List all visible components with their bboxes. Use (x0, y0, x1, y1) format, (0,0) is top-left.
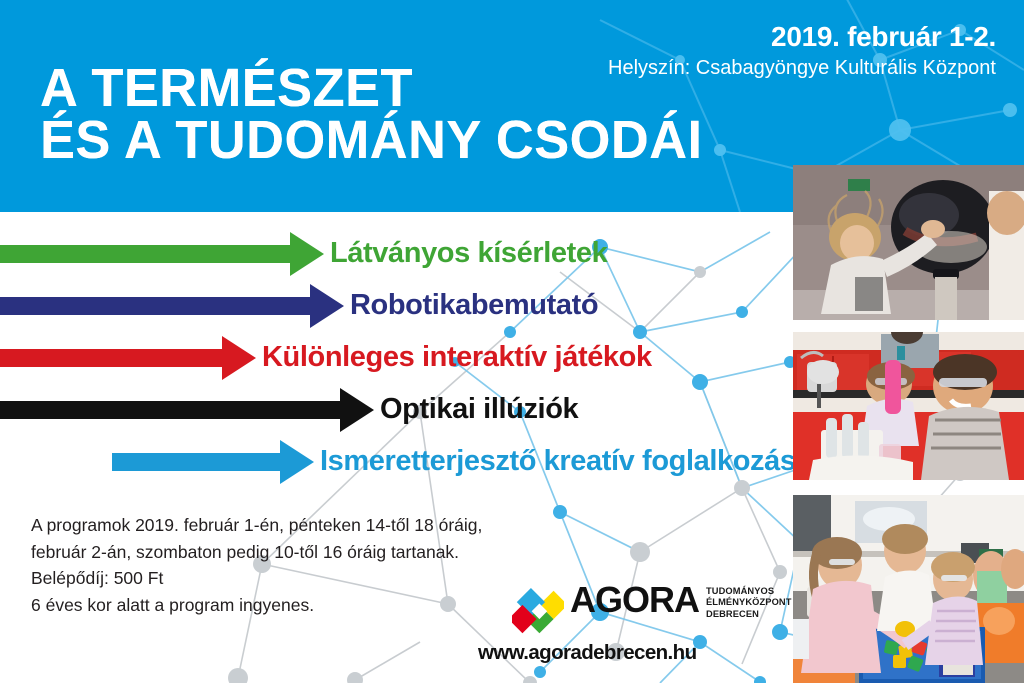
program-item: Ismeretterjesztő kreatív foglalkozás (112, 436, 796, 488)
program-item-label: Robotikabemutató (350, 291, 598, 320)
program-item: Különleges interaktív játékok (0, 332, 652, 384)
photo-chemistry-lab (793, 332, 1024, 480)
agora-tagline-line-1: TUDOMÁNYOS (706, 586, 792, 597)
agora-tagline-line-2: ÉLMÉNYKÖZPONT (706, 597, 792, 608)
program-item-label: Különleges interaktív játékok (262, 343, 652, 372)
page-title: A TERMÉSZET ÉS A TUDOMÁNY CSODÁI (40, 62, 723, 167)
program-arrow-icon (0, 384, 374, 436)
event-info-block: A programok 2019. február 1-én, pénteken… (31, 512, 551, 618)
photo-column (793, 0, 1024, 683)
photo-creative-workshop (793, 495, 1024, 683)
program-arrow-icon (0, 280, 344, 332)
agora-wordmark: AGORA (570, 583, 699, 617)
agora-tagline-line-3: DEBRECEN (706, 609, 792, 620)
agora-tagline: TUDOMÁNYOS ÉLMÉNYKÖZPONT DEBRECEN (706, 586, 792, 620)
program-arrow-icon (112, 436, 314, 488)
agora-website-url[interactable]: www.agoradebrecen.hu (478, 641, 782, 665)
program-arrow-icon (0, 228, 324, 280)
photo-van-de-graaff (793, 165, 1024, 320)
program-item: Optikai illúziók (0, 384, 578, 436)
agora-logo[interactable]: AGORA TUDOMÁNYOS ÉLMÉNYKÖZPONT DEBRECEN … (512, 583, 782, 655)
program-item-label: Optikai illúziók (380, 395, 578, 424)
title-line-2: ÉS A TUDOMÁNY CSODÁI (40, 114, 703, 166)
poster: 2019. február 1-2. Helyszín: Csabagyöngy… (0, 0, 1024, 683)
agora-diamond-mark-icon (512, 584, 564, 640)
info-line-1: A programok 2019. február 1-én, pénteken… (31, 512, 551, 539)
title-line-1: A TERMÉSZET (40, 62, 703, 114)
program-item-label: Ismeretterjesztő kreatív foglalkozás (320, 447, 796, 476)
info-line-4: 6 éves kor alatt a program ingyenes. (31, 592, 551, 619)
info-line-2: február 2-án, szombaton pedig 10-től 16 … (31, 539, 551, 566)
program-item-label: Látványos kísérletek (330, 239, 607, 268)
info-line-3: Belépődíj: 500 Ft (31, 565, 551, 592)
program-item: Látványos kísérletek (0, 228, 607, 280)
program-list: Látványos kísérletekRobotikabemutatóKülö… (0, 228, 800, 486)
program-arrow-icon (0, 332, 256, 384)
program-item: Robotikabemutató (0, 280, 598, 332)
